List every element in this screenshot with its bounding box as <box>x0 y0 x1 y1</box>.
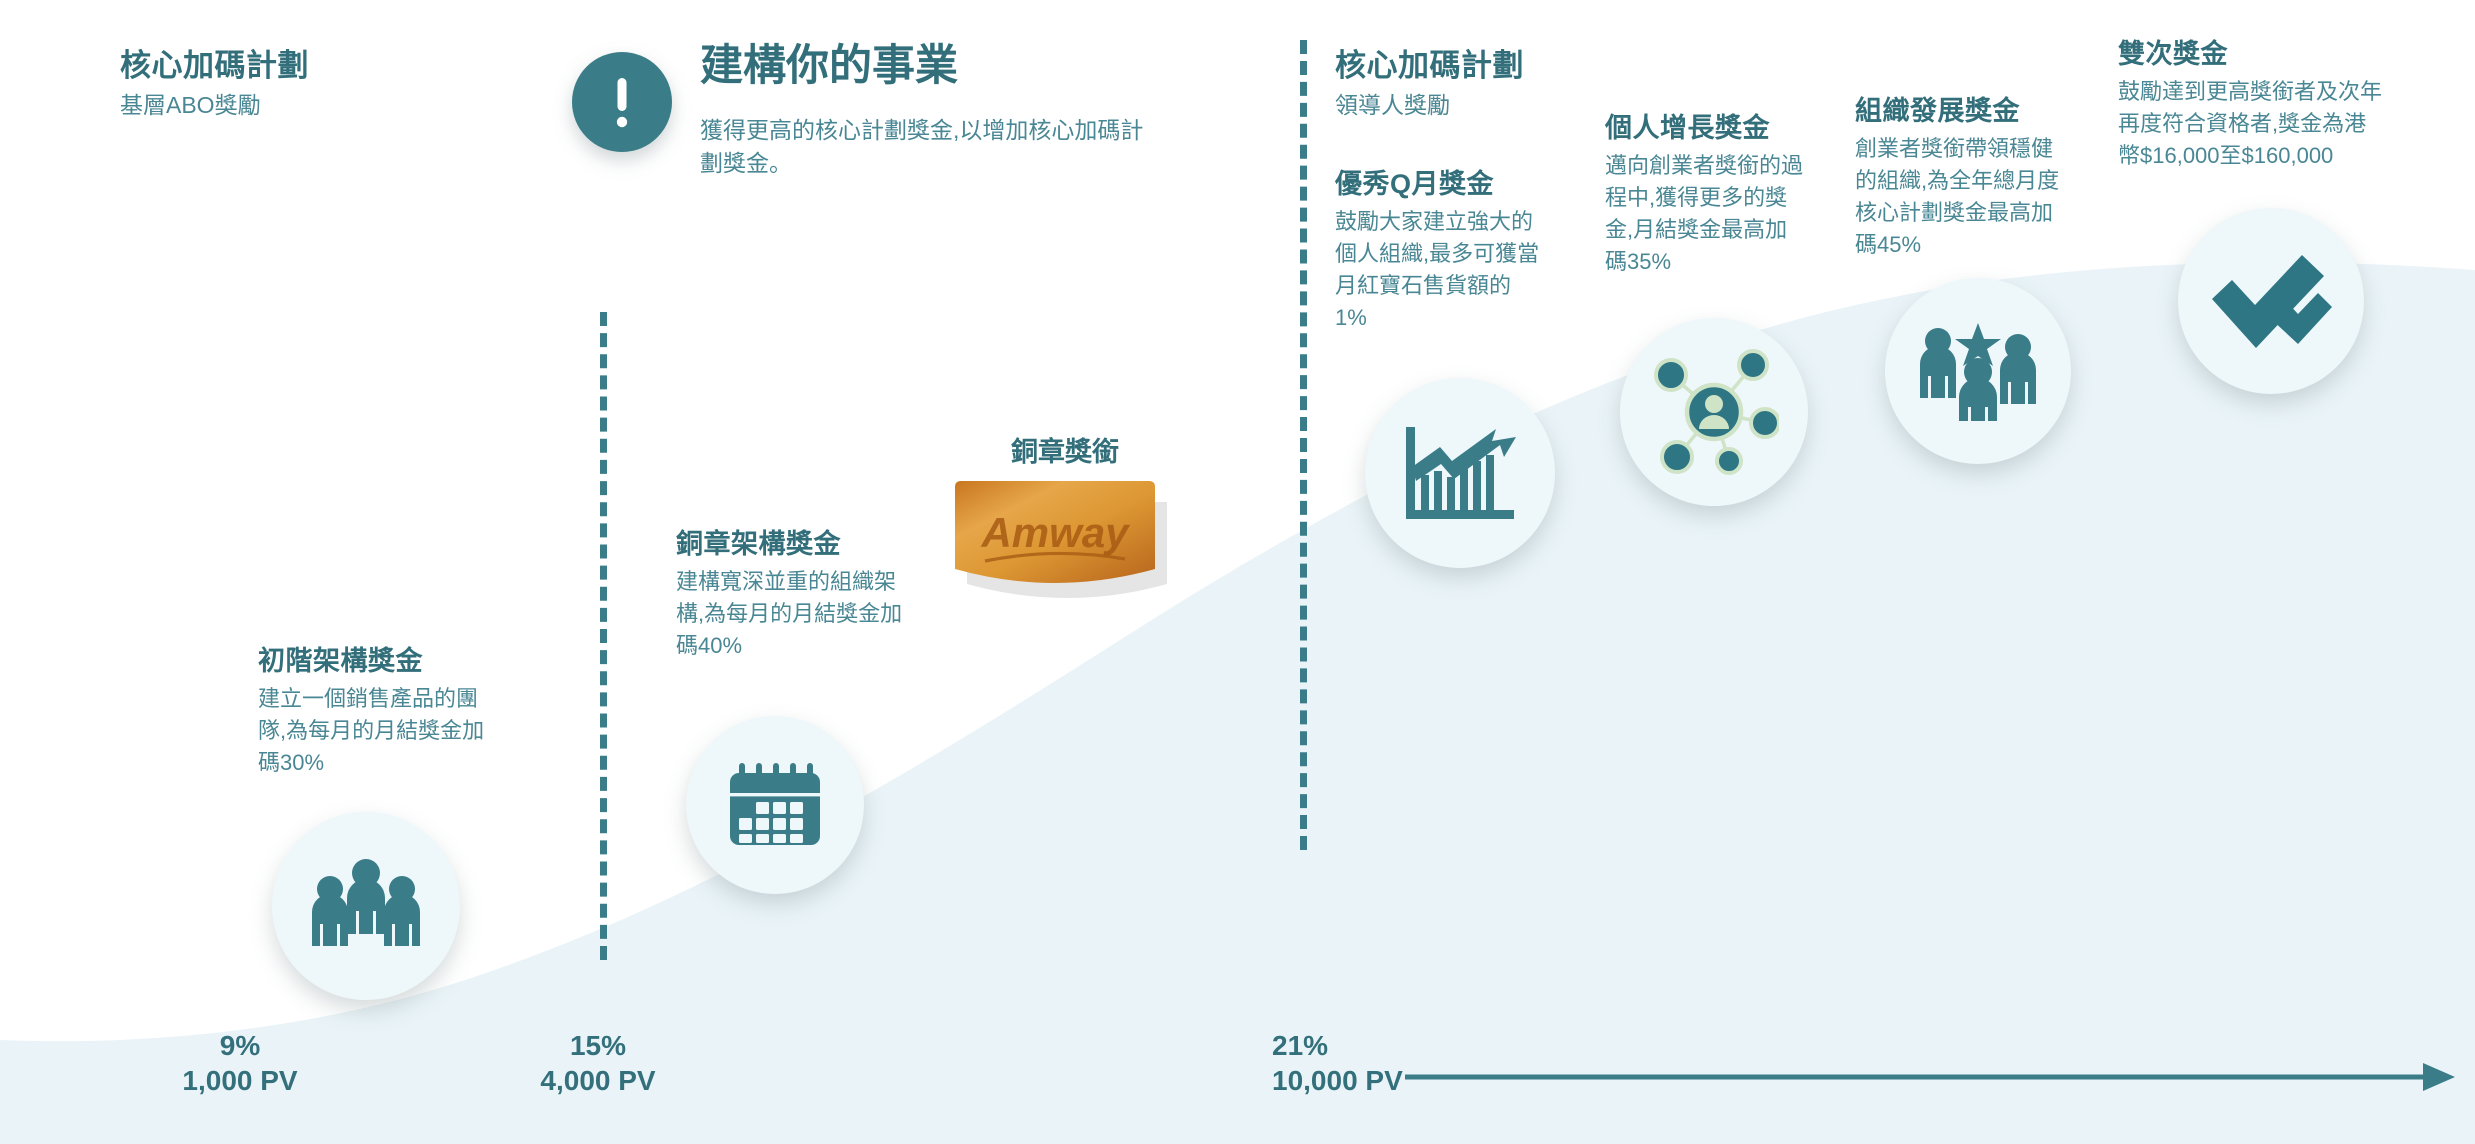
block-bronze-builder-title: 銅章架構獎金 <box>676 528 906 560</box>
block-two-time-body: 鼓勵達到更高獎銜者及次年再度符合資格者,獎金為港幣$16,000至$160,00… <box>2118 76 2386 172</box>
axis-tick-9-pct: 9% <box>140 1028 340 1063</box>
block-personal-growth-title: 個人增長獎金 <box>1605 112 1805 144</box>
block-q-month-body: 鼓勵大家建立強大的個人組織,最多可獲當月紅寶石售貨額的1% <box>1335 206 1540 334</box>
axis-tick-15-pct: 15% <box>498 1028 698 1063</box>
axis-tick-9-pv: 1,000 PV <box>140 1063 340 1098</box>
block-foundational: 初階架構獎金 建立一個銷售產品的團隊,為每月的月結獎金加碼30% <box>258 645 488 779</box>
block-org-development-title: 組織發展獎金 <box>1855 95 2060 127</box>
bronze-award-label: 銅章獎銜 <box>945 430 1185 469</box>
calendar-glyph <box>722 755 828 855</box>
header-center-body: 獲得更高的核心計劃獎金,以增加核心加碼計劃獎金。 <box>700 114 1160 179</box>
block-bronze-builder-body: 建構寬深並重的組織架構,為每月的月結獎金加碼40% <box>676 566 906 662</box>
axis-tick-9: 9% 1,000 PV <box>140 1028 340 1098</box>
infographic-canvas: 核心加碼計劃 基層ABO獎勵 建構你的事業 獲得更高的核心計劃獎金,以增加核心加… <box>0 0 2475 1144</box>
header-left-title: 核心加碼計劃 <box>120 48 500 85</box>
block-q-month: 優秀Q月獎金 鼓勵大家建立強大的個人組織,最多可獲當月紅寶石售貨額的1% <box>1335 168 1540 334</box>
header-right-subtitle: 領導人獎勵 <box>1335 91 1635 121</box>
axis-tick-15: 15% 4,000 PV <box>498 1028 698 1098</box>
calendar-icon <box>686 716 864 894</box>
amway-wordmark: Amway <box>980 509 1131 556</box>
header-center: 建構你的事業 獲得更高的核心計劃獎金,以增加核心加碼計劃獎金。 <box>700 42 1160 203</box>
divider-left <box>600 312 607 960</box>
header-left: 核心加碼計劃 基層ABO獎勵 <box>120 48 500 120</box>
right-arrow-icon <box>1405 1060 2455 1094</box>
growth-chart-glyph <box>1400 421 1520 525</box>
divider-right <box>1300 40 1307 850</box>
block-org-development: 組織發展獎金 創業者獎銜帶領穩健的組織,為全年總月度核心計劃獎金最高加碼45% <box>1855 95 2060 261</box>
block-two-time-title: 雙次獎金 <box>2118 38 2386 70</box>
block-bronze-builder: 銅章架構獎金 建構寬深並重的組織架構,為每月的月結獎金加碼40% <box>676 528 906 662</box>
header-left-subtitle: 基層ABO獎勵 <box>120 91 500 121</box>
block-personal-growth-body: 邁向創業者獎銜的過程中,獲得更多的獎金,月結獎金最高加碼35% <box>1605 150 1805 278</box>
amway-plaque-icon: Amway <box>945 479 1175 609</box>
network-icon <box>1620 318 1808 506</box>
three-people-glyph <box>307 858 425 954</box>
growth-chart-icon <box>1365 378 1555 568</box>
people-star-icon <box>1885 278 2071 464</box>
header-center-title: 建構你的事業 <box>700 42 1160 91</box>
double-check-glyph <box>2208 249 2334 353</box>
header-right: 核心加碼計劃 領導人獎勵 <box>1335 48 1635 120</box>
people-star-glyph <box>1916 319 2040 423</box>
block-foundational-body: 建立一個銷售產品的團隊,為每月的月結獎金加碼30% <box>258 683 488 779</box>
exclamation-glyph <box>572 52 672 152</box>
three-people-icon <box>272 812 460 1000</box>
bronze-award: 銅章獎銜 Amway <box>945 430 1185 614</box>
block-q-month-title: 優秀Q月獎金 <box>1335 168 1540 200</box>
block-personal-growth: 個人增長獎金 邁向創業者獎銜的過程中,獲得更多的獎金,月結獎金最高加碼35% <box>1605 112 1805 278</box>
block-two-time: 雙次獎金 鼓勵達到更高獎銜者及次年再度符合資格者,獎金為港幣$16,000至$1… <box>2118 38 2386 172</box>
header-right-title: 核心加碼計劃 <box>1335 48 1635 85</box>
exclamation-icon <box>572 52 672 152</box>
network-glyph <box>1649 349 1779 475</box>
block-foundational-title: 初階架構獎金 <box>258 645 488 677</box>
axis-tick-21-pct: 21% <box>1272 1028 1492 1063</box>
block-org-development-body: 創業者獎銜帶領穩健的組織,為全年總月度核心計劃獎金最高加碼45% <box>1855 133 2060 261</box>
axis-tick-15-pv: 4,000 PV <box>498 1063 698 1098</box>
double-check-icon <box>2178 208 2364 394</box>
